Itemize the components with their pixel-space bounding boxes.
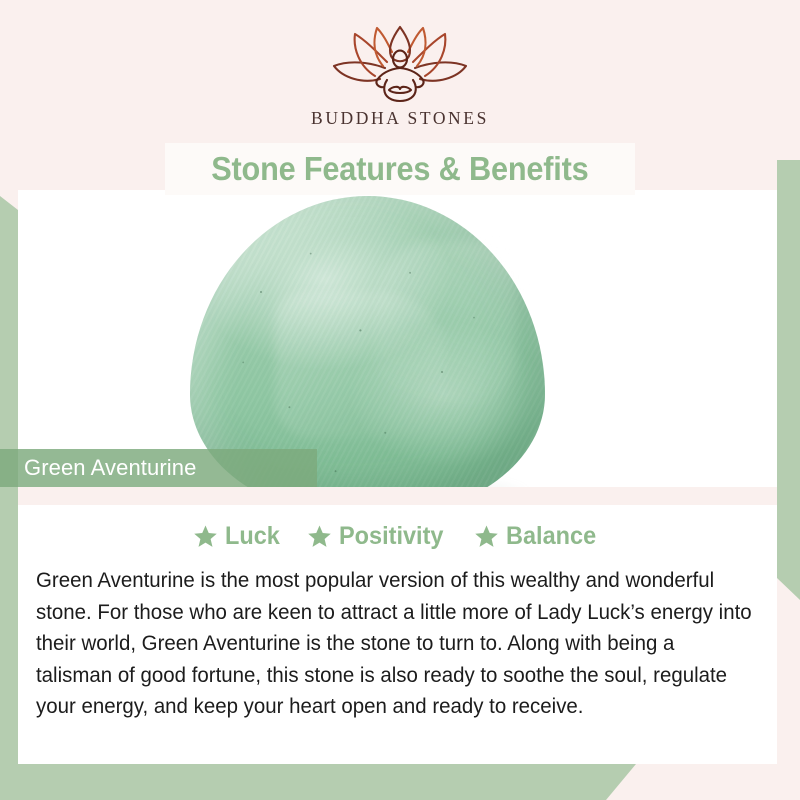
stone-name-bar: Green Aventurine: [0, 449, 317, 487]
brand-name: BUDDHA STONES: [311, 108, 489, 129]
description-card: Luck Positivity Balance Green Aventurine…: [18, 505, 777, 764]
infographic-page: BUDDHA STONES Stone Features & Benefits …: [0, 0, 800, 800]
frame-accent-left: [0, 196, 18, 782]
stone-description: Green Aventurine is the most popular ver…: [36, 565, 755, 723]
section-title-banner: Stone Features & Benefits: [165, 143, 635, 195]
lotus-meditation-figure-icon: [325, 22, 475, 104]
frame-accent-bottom: [0, 764, 636, 800]
star-icon: [474, 524, 499, 549]
feature-item-balance: Balance: [474, 522, 602, 551]
feature-item-positivity: Positivity: [307, 522, 450, 551]
stone-facet-highlight-left: [275, 292, 445, 439]
divider-sliver: [18, 487, 777, 505]
stone-facet-highlight-right: [375, 241, 517, 407]
feature-label: Balance: [506, 522, 596, 551]
feature-label: Positivity: [339, 522, 443, 551]
brand-header: BUDDHA STONES: [0, 0, 800, 160]
feature-label: Luck: [225, 522, 280, 551]
feature-item-luck: Luck: [193, 522, 283, 551]
frame-accent-right: [777, 160, 800, 600]
page-title: Stone Features & Benefits: [211, 150, 588, 188]
stone-name-label: Green Aventurine: [0, 455, 196, 481]
star-icon: [307, 524, 332, 549]
feature-list: Luck Positivity Balance: [36, 515, 759, 557]
star-icon: [193, 524, 218, 549]
